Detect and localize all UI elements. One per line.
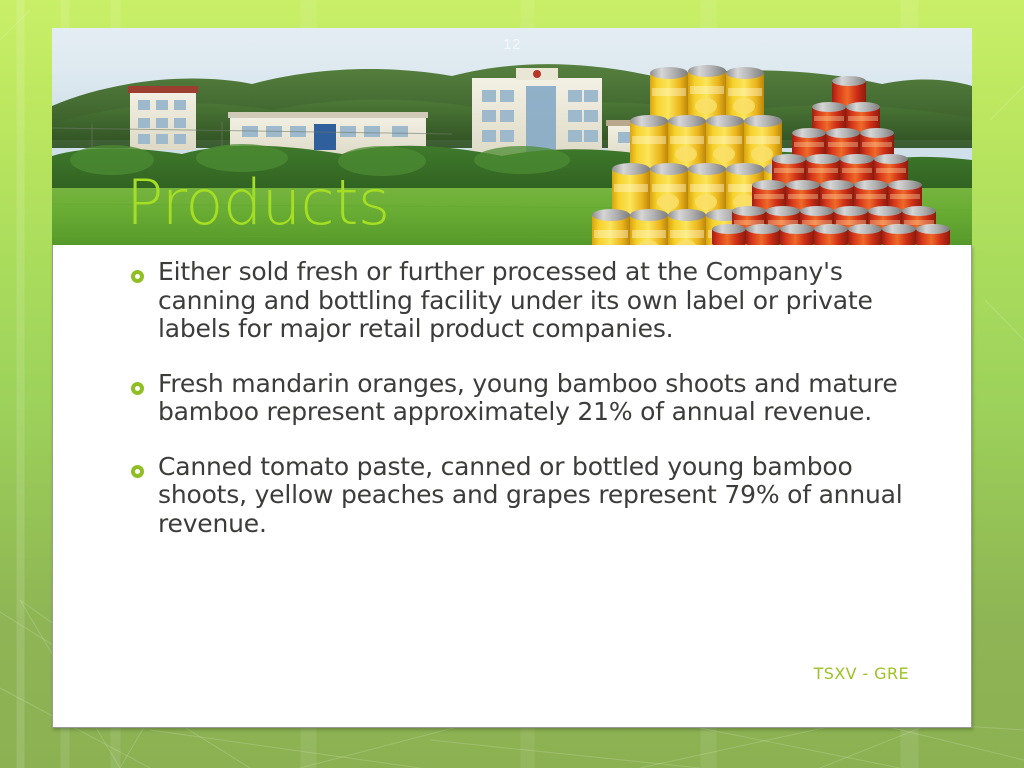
ring-bullet-icon [131,382,144,395]
slide: 12 Products Either sold fresh or further… [0,0,1024,768]
list-item: Either sold fresh or further processed a… [131,258,941,344]
ring-bullet-icon [131,270,144,283]
footer-ticker: TSXV - GRE [814,664,909,683]
bullet-text: Fresh mandarin oranges, young bamboo sho… [158,370,941,427]
page-number: 12 [0,36,1024,53]
content-panel: Either sold fresh or further processed a… [52,245,972,728]
bullet-list: Either sold fresh or further processed a… [131,258,941,564]
ring-bullet-icon [131,465,144,478]
list-item: Fresh mandarin oranges, young bamboo sho… [131,370,941,427]
bullet-text: Canned tomato paste, canned or bottled y… [158,453,941,539]
list-item: Canned tomato paste, canned or bottled y… [131,453,941,539]
bullet-text: Either sold fresh or further processed a… [158,258,941,344]
page-title: Products [126,172,390,234]
